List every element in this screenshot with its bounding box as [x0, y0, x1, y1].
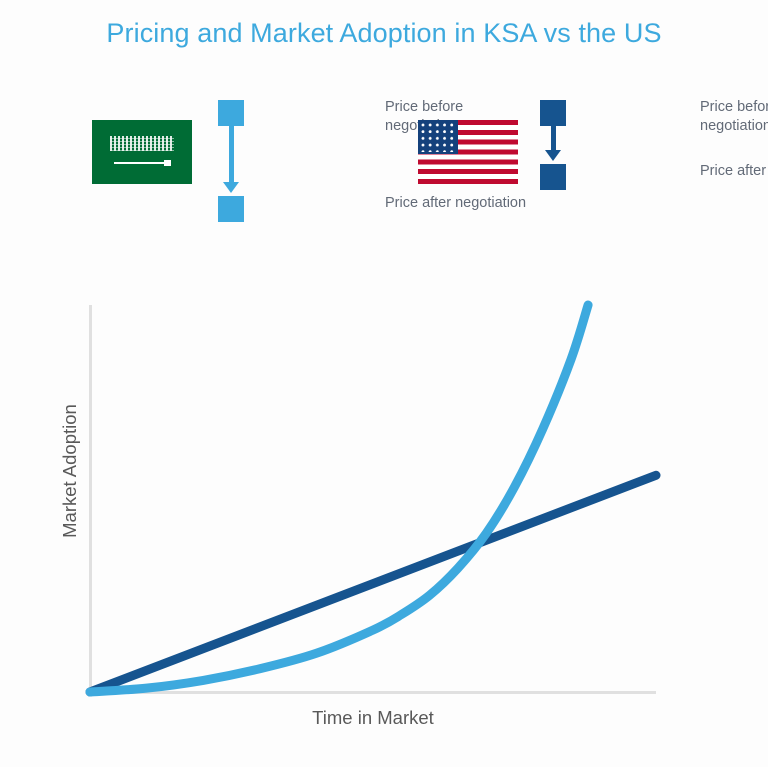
infographic-page: Pricing and Market Adoption in KSA vs th… [0, 0, 768, 762]
series-line-ksa [90, 305, 588, 692]
y-axis-title: Market Adoption [59, 361, 81, 581]
series-line-us [90, 475, 656, 692]
x-axis-title: Time in Market [90, 707, 656, 729]
adoption-chart: Market Adoption Time in Market [0, 0, 768, 762]
chart-svg [0, 0, 768, 762]
